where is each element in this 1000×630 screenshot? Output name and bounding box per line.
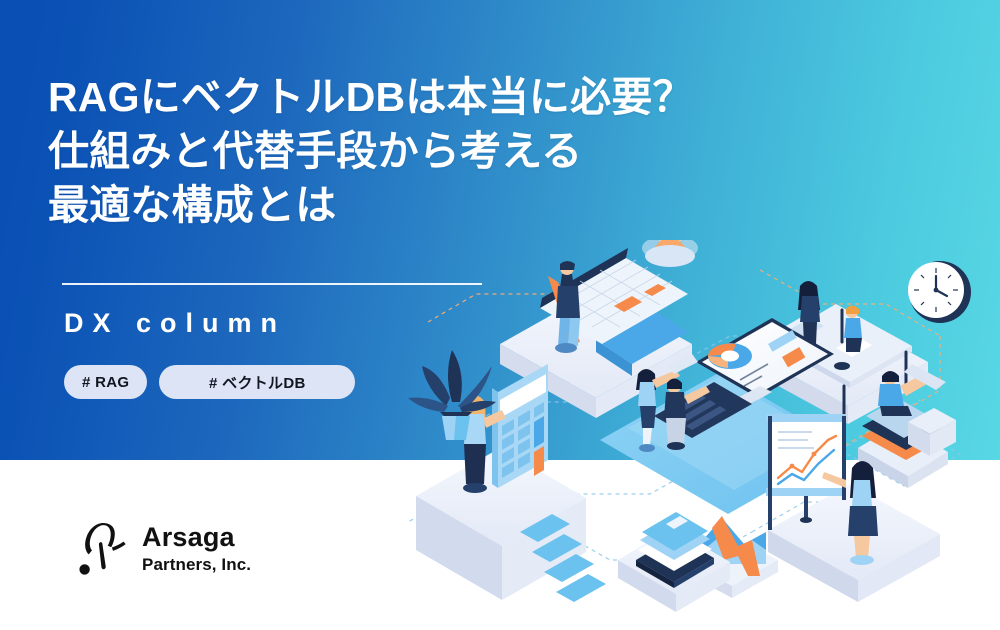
logo-wordmark: Arsaga Partners, Inc.: [142, 524, 251, 573]
wall-clock: [908, 261, 971, 323]
page-title-line-3: 最適な構成とは: [48, 178, 568, 232]
logo-company-subtitle: Partners, Inc.: [142, 556, 251, 573]
arsaga-a-mark-icon: [76, 520, 128, 576]
tag-list: # RAG # ベクトルDB: [64, 365, 355, 399]
hero-text-column: RAGにベクトルDBは本当に必要？ 仕組みと代替手段から考える 最適な構成とは …: [48, 0, 568, 460]
tag-vector-db[interactable]: # ベクトルDB: [159, 365, 355, 399]
page-title-line-2: 仕組みと代替手段から考える: [48, 124, 568, 178]
title-divider: [62, 283, 482, 285]
tag-rag[interactable]: # RAG: [64, 365, 147, 399]
company-logo[interactable]: Arsaga Partners, Inc.: [76, 520, 251, 576]
logo-company-name: Arsaga: [142, 524, 251, 551]
article-hero-banner: RAGにベクトルDBは本当に必要？ 仕組みと代替手段から考える 最適な構成とは …: [0, 0, 1000, 630]
hourglass: [642, 240, 698, 267]
page-title-line-1: RAGにベクトルDBは本当に必要？: [48, 70, 568, 124]
page-title: RAGにベクトルDBは本当に必要？ 仕組みと代替手段から考える 最適な構成とは: [48, 70, 568, 232]
category-label: DX column: [64, 308, 286, 339]
